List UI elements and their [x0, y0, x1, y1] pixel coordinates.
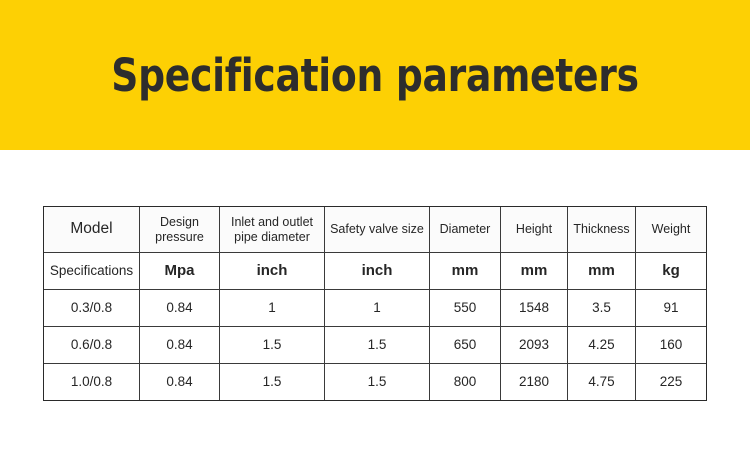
- column-header-model-label: Model: [70, 220, 112, 237]
- cell-weight: 91: [636, 290, 707, 327]
- column-header-diameter: Diameter: [430, 207, 501, 253]
- units-weight: kg: [636, 253, 707, 290]
- cell-diameter: 800: [430, 364, 501, 401]
- cell-weight: 160: [636, 327, 707, 364]
- cell-height: 1548: [501, 290, 568, 327]
- units-design-pressure: Mpa: [140, 253, 220, 290]
- units-thickness: mm: [568, 253, 636, 290]
- specification-table: Model Design pressure Inlet and outlet p…: [43, 206, 707, 401]
- column-header-design-pressure-line1: Design: [160, 215, 199, 229]
- cell-height: 2093: [501, 327, 568, 364]
- column-header-height-label: Height: [516, 222, 552, 236]
- column-header-height: Height: [501, 207, 568, 253]
- units-row-label: Specifications: [44, 253, 140, 290]
- cell-thickness: 4.25: [568, 327, 636, 364]
- column-header-weight-label: Weight: [652, 222, 691, 236]
- column-header-model: Model: [44, 207, 140, 253]
- column-header-safety-valve-size: Safety valve size: [325, 207, 430, 253]
- table-row: 0.6/0.8 0.84 1.5 1.5 650 2093 4.25 160: [44, 327, 707, 364]
- table-units-row: Specifications Mpa inch inch mm mm mm kg: [44, 253, 707, 290]
- page-banner: Specification parameters: [0, 0, 750, 150]
- table-header-row: Model Design pressure Inlet and outlet p…: [44, 207, 707, 253]
- column-header-safety-valve-size-label: Safety valve size: [330, 222, 424, 236]
- cell-safety-valve-size: 1.5: [325, 327, 430, 364]
- cell-inlet-outlet-pipe-diameter: 1.5: [220, 327, 325, 364]
- column-header-thickness-label: Thickness: [573, 222, 629, 236]
- specification-table-container: Model Design pressure Inlet and outlet p…: [43, 206, 706, 401]
- cell-height: 2180: [501, 364, 568, 401]
- column-header-thickness: Thickness: [568, 207, 636, 253]
- cell-thickness: 4.75: [568, 364, 636, 401]
- cell-thickness: 3.5: [568, 290, 636, 327]
- cell-inlet-outlet-pipe-diameter: 1: [220, 290, 325, 327]
- page-title: Specification parameters: [26, 0, 724, 150]
- cell-model: 0.6/0.8: [44, 327, 140, 364]
- units-diameter: mm: [430, 253, 501, 290]
- column-header-inlet-outlet-line2: pipe diameter: [234, 230, 310, 244]
- cell-design-pressure: 0.84: [140, 364, 220, 401]
- cell-diameter: 550: [430, 290, 501, 327]
- cell-inlet-outlet-pipe-diameter: 1.5: [220, 364, 325, 401]
- cell-design-pressure: 0.84: [140, 290, 220, 327]
- cell-design-pressure: 0.84: [140, 327, 220, 364]
- column-header-diameter-label: Diameter: [440, 222, 491, 236]
- cell-weight: 225: [636, 364, 707, 401]
- column-header-design-pressure: Design pressure: [140, 207, 220, 253]
- column-header-inlet-outlet-pipe-diameter: Inlet and outlet pipe diameter: [220, 207, 325, 253]
- cell-diameter: 650: [430, 327, 501, 364]
- units-height: mm: [501, 253, 568, 290]
- cell-model: 0.3/0.8: [44, 290, 140, 327]
- cell-safety-valve-size: 1: [325, 290, 430, 327]
- column-header-weight: Weight: [636, 207, 707, 253]
- column-header-inlet-outlet-line1: Inlet and outlet: [231, 215, 313, 229]
- table-row: 1.0/0.8 0.84 1.5 1.5 800 2180 4.75 225: [44, 364, 707, 401]
- cell-safety-valve-size: 1.5: [325, 364, 430, 401]
- units-safety-valve-size: inch: [325, 253, 430, 290]
- page-root: Specification parameters Model Design pr…: [0, 0, 750, 465]
- units-inlet-outlet-pipe-diameter: inch: [220, 253, 325, 290]
- cell-model: 1.0/0.8: [44, 364, 140, 401]
- column-header-design-pressure-line2: pressure: [155, 230, 204, 244]
- table-row: 0.3/0.8 0.84 1 1 550 1548 3.5 91: [44, 290, 707, 327]
